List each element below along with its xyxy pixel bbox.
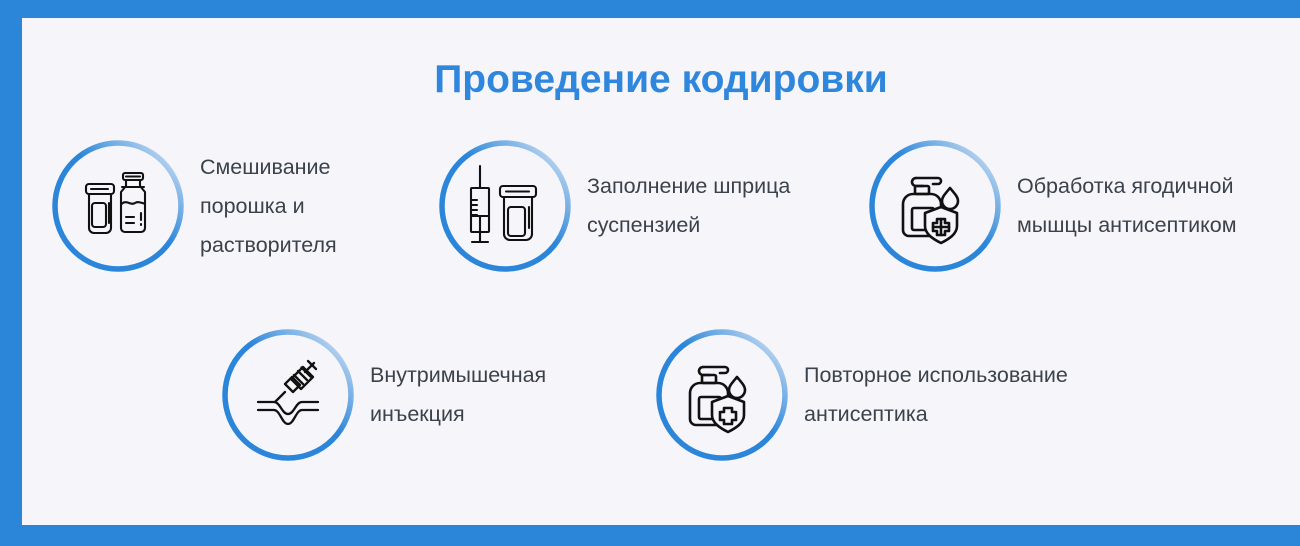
step-circle: [654, 327, 790, 463]
step-circle: [220, 327, 356, 463]
step-item-antiseptic-skin[interactable]: Обработка ягодичной мышцы антисептиком: [867, 138, 1297, 274]
step-circle: [50, 138, 186, 274]
injection-skin-icon: [220, 327, 356, 463]
step-item-mixing[interactable]: Смешивание порошка и растворителя: [50, 138, 410, 274]
step-item-intramuscular-injection[interactable]: Внутримышечная инъекция: [220, 327, 580, 463]
two-vials-icon: [50, 138, 186, 274]
syringe-and-vial-icon: [437, 138, 573, 274]
infographic-frame: Проведение кодировки: [0, 0, 1300, 546]
step-label: Повторное использование антисептика: [804, 356, 1068, 434]
step-item-antiseptic-repeat[interactable]: Повторное использование антисептика: [654, 327, 1124, 463]
sanitizer-shield-icon: [867, 138, 1003, 274]
step-label: Смешивание порошка и растворителя: [200, 148, 337, 265]
step-item-fill-syringe[interactable]: Заполнение шприца суспензией: [437, 138, 837, 274]
step-label: Внутримышечная инъекция: [370, 356, 546, 434]
page-title: Проведение кодировки: [22, 58, 1300, 102]
step-label: Обработка ягодичной мышцы антисептиком: [1017, 167, 1237, 245]
step-circle: [437, 138, 573, 274]
step-circle: [867, 138, 1003, 274]
step-label: Заполнение шприца суспензией: [587, 167, 790, 245]
infographic-panel: Проведение кодировки: [22, 18, 1300, 525]
sanitizer-shield-icon: [654, 327, 790, 463]
